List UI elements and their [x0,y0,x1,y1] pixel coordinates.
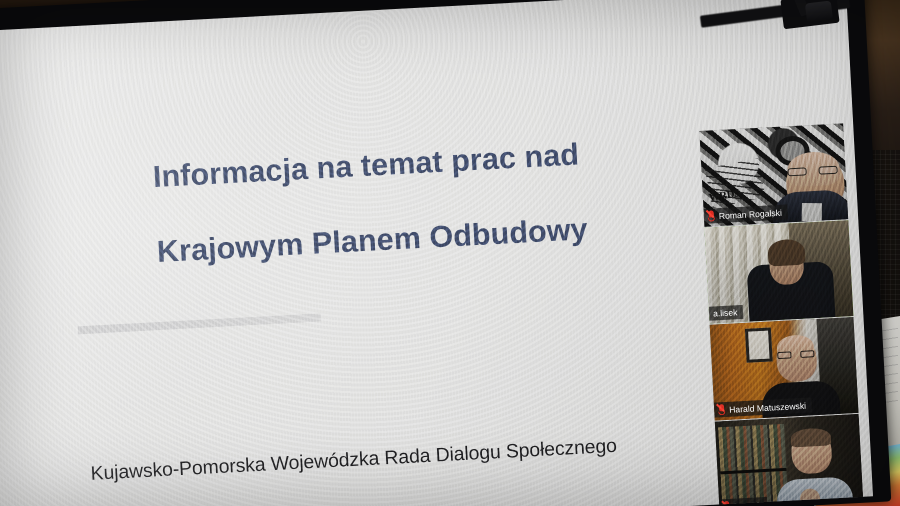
presentation-slide: Informacja na temat prac nad Krajowym Pl… [0,0,873,506]
mic-muted-icon [708,210,716,221]
mic-muted-icon [718,404,726,415]
participant-name: Harald Matuszewski [729,400,806,414]
tile-shading [715,414,864,506]
participant-name: Roman Rogalski [719,207,783,220]
camera-icon [805,0,833,23]
slide-title: Informacja na temat prac nad Krajowym Pl… [152,134,677,267]
slide-divider [78,313,321,334]
video-conference-strip: WRDS Roman Rogalski [699,123,863,506]
participant-tile-roman-rogalski[interactable]: WRDS Roman Rogalski [699,123,848,227]
participant-name: a.lisek [713,307,738,318]
participant-name-badge: a.lisek [709,305,744,321]
participant-tile-harald-matuszewski[interactable]: Harald Matuszewski [710,317,859,421]
participant-tile-leszek[interactable]: Leszek [715,414,864,506]
participant-tile-a-lisek[interactable]: a.lisek [704,220,853,324]
slide-footer: Kujawsko-Pomorska Wojewódzka Rada Dialog… [90,429,730,486]
photograph: Informacja na temat prac nad Krajowym Pl… [0,0,900,506]
slide-title-line-1: Informacja na temat prac nad [152,134,673,192]
slide-year: 2021 [449,503,493,506]
display-screen: Informacja na temat prac nad Krajowym Pl… [0,0,873,506]
display: Informacja na temat prac nad Krajowym Pl… [0,0,891,506]
slide-title-line-2: Krajowym Planem Odbudowy [156,209,677,267]
